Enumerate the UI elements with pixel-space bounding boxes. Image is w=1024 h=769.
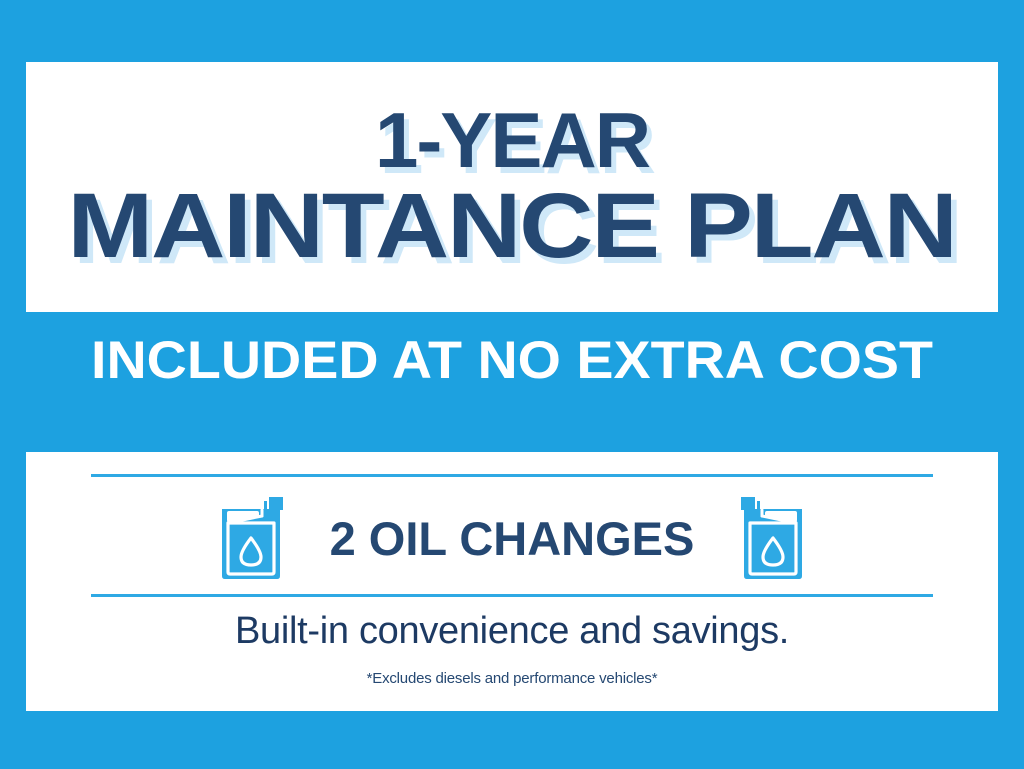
divider-bottom — [91, 594, 933, 597]
offer-label: 2 OIL CHANGES — [330, 511, 695, 566]
headline-line-1: 1-YEAR — [375, 104, 649, 177]
subhead-text: INCLUDED AT NO EXTRA COST — [0, 330, 1024, 391]
headline-line-2: MAINTANCE PLAN — [68, 184, 956, 270]
offer-row: 2 OIL CHANGES — [26, 488, 998, 588]
detail-panel: 2 OIL CHANGES Built-in convenience and s… — [26, 452, 998, 711]
headline-panel: 1-YEAR MAINTANCE PLAN — [26, 62, 998, 312]
promo-poster: 1-YEAR MAINTANCE PLAN INCLUDED AT NO EXT… — [0, 0, 1024, 769]
fineprint-text: *Excludes diesels and performance vehicl… — [26, 670, 998, 687]
oil-jug-icon-left — [218, 496, 284, 580]
tagline-text: Built-in convenience and savings. — [26, 610, 998, 653]
oil-jug-icon-right — [740, 496, 806, 580]
divider-top — [91, 474, 933, 477]
